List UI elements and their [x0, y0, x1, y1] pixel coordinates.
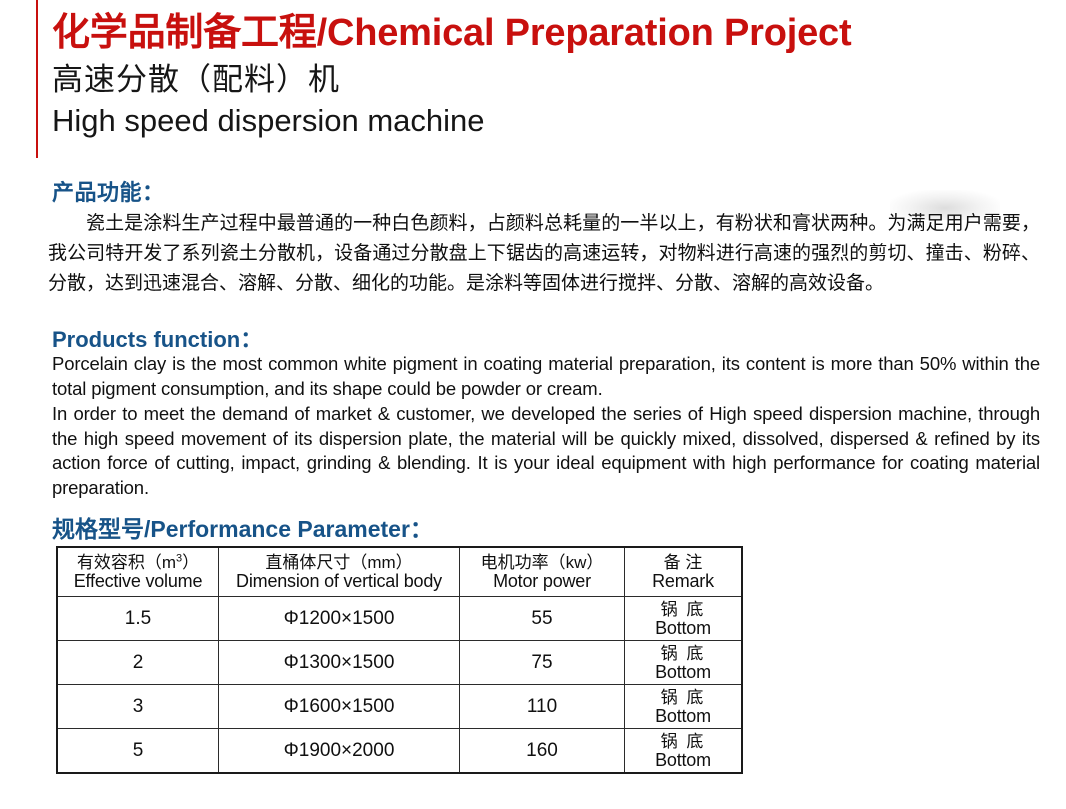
cell-remark-en: Bottom [625, 751, 741, 770]
table-row: 1.5 Φ1200×1500 55 锅 底 Bottom [57, 597, 742, 641]
table-header-motor-power: 电机功率（kw） Motor power [460, 547, 625, 597]
table-header-effective-volume-cn: 有效容积（m3） [60, 553, 216, 572]
table-header-motor-power-cn: 电机功率（kw） [462, 553, 622, 572]
cell-dimension: Φ1900×2000 [219, 729, 460, 774]
table-header-remark-en: Remark [627, 572, 739, 591]
spec-table-container: 有效容积（m3） Effective volume 直桶体尺寸（mm） Dime… [56, 546, 743, 774]
cell-remark-en: Bottom [625, 707, 741, 726]
cell-remark: 锅 底 Bottom [625, 729, 743, 774]
cell-volume: 3 [57, 685, 219, 729]
product-name-english: High speed dispersion machine [52, 102, 1052, 140]
cell-remark: 锅 底 Bottom [625, 685, 743, 729]
cell-remark: 锅 底 Bottom [625, 597, 743, 641]
cell-dimension: Φ1300×1500 [219, 641, 460, 685]
cell-remark-en: Bottom [625, 619, 741, 638]
section-heading-product-function-cn: 产品功能： [52, 175, 165, 207]
cell-remark-cn: 锅 底 [625, 644, 741, 663]
products-function-body-paragraph-2: In order to meet the demand of market & … [52, 402, 1040, 500]
cell-volume: 5 [57, 729, 219, 774]
cell-remark-en: Bottom [625, 663, 741, 682]
cell-remark-cn: 锅 底 [625, 600, 741, 619]
cell-dimension: Φ1600×1500 [219, 685, 460, 729]
performance-parameter-table: 有效容积（m3） Effective volume 直桶体尺寸（mm） Dime… [56, 546, 743, 774]
product-function-body-cn: 瓷土是涂料生产过程中最普通的一种白色颜料，占颜料总耗量的一半以上，有粉状和膏状两… [48, 209, 1040, 299]
cell-volume: 1.5 [57, 597, 219, 641]
cell-remark-cn: 锅 底 [625, 688, 741, 707]
table-body: 1.5 Φ1200×1500 55 锅 底 Bottom 2 Φ1300×150… [57, 597, 742, 774]
table-header-effective-volume-en: Effective volume [60, 572, 216, 591]
product-name-chinese: 高速分散（配料）机 [52, 60, 1052, 100]
cell-remark: 锅 底 Bottom [625, 641, 743, 685]
table-header-remark-cn: 备 注 [627, 553, 739, 572]
table-row: 3 Φ1600×1500 110 锅 底 Bottom [57, 685, 742, 729]
table-header: 有效容积（m3） Effective volume 直桶体尺寸（mm） Dime… [57, 547, 742, 597]
table-row: 5 Φ1900×2000 160 锅 底 Bottom [57, 729, 742, 774]
table-header-dimension: 直桶体尺寸（mm） Dimension of vertical body [219, 547, 460, 597]
table-header-remark: 备 注 Remark [625, 547, 743, 597]
section-heading-performance-parameter: 规格型号/Performance Parameter： [52, 510, 433, 544]
table-row: 2 Φ1300×1500 75 锅 底 Bottom [57, 641, 742, 685]
table-header-effective-volume: 有效容积（m3） Effective volume [57, 547, 219, 597]
table-header-row: 有效容积（m3） Effective volume 直桶体尺寸（mm） Dime… [57, 547, 742, 597]
cell-motor-power: 55 [460, 597, 625, 641]
table-header-dimension-cn: 直桶体尺寸（mm） [221, 553, 457, 572]
cell-remark-cn: 锅 底 [625, 732, 741, 751]
red-accent-bar [36, 0, 38, 158]
section-heading-products-function-en: Products function： [52, 322, 262, 354]
products-function-body-paragraph-1: Porcelain clay is the most common white … [52, 352, 1040, 401]
table-header-motor-power-en: Motor power [462, 572, 622, 591]
cell-dimension: Φ1200×1500 [219, 597, 460, 641]
page-header: 化学品制备工程/Chemical Preparation Project 高速分… [52, 10, 1052, 140]
table-header-dimension-en: Dimension of vertical body [221, 572, 457, 591]
cell-motor-power: 110 [460, 685, 625, 729]
cell-volume: 2 [57, 641, 219, 685]
cell-motor-power: 75 [460, 641, 625, 685]
page-title: 化学品制备工程/Chemical Preparation Project [52, 10, 1052, 56]
cell-motor-power: 160 [460, 729, 625, 774]
